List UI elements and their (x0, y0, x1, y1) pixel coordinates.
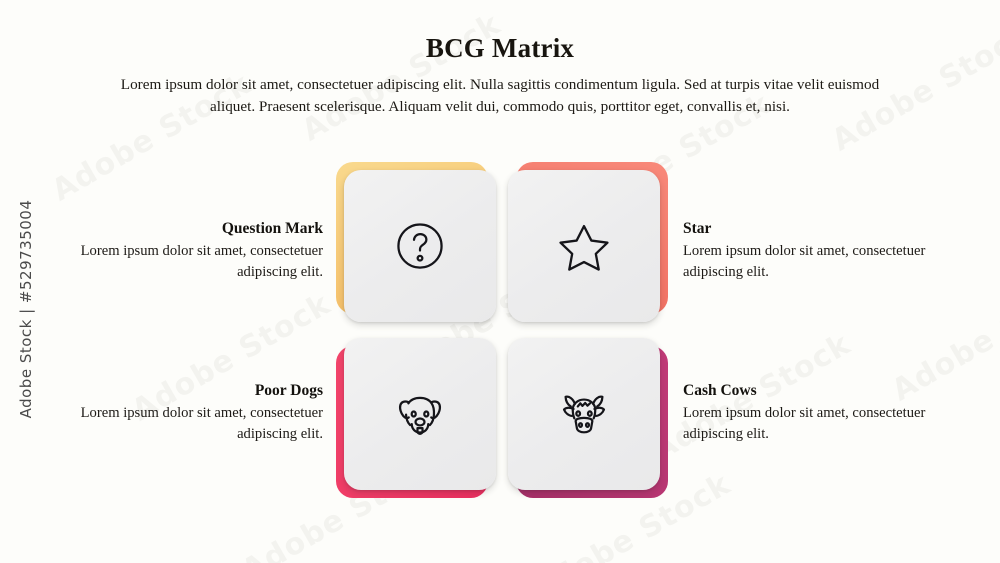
label-title: Question Mark (78, 219, 323, 240)
label-cash-cows: Cash Cows Lorem ipsum dolor sit amet, co… (683, 381, 928, 444)
quadrant-card[interactable] (344, 170, 496, 322)
bcg-matrix-grid (336, 162, 668, 498)
quadrant-card[interactable] (344, 338, 496, 490)
dog-face-icon (389, 383, 451, 445)
label-title: Cash Cows (683, 381, 928, 402)
label-question-mark: Question Mark Lorem ipsum dolor sit amet… (78, 219, 323, 282)
quadrant-card[interactable] (508, 170, 660, 322)
slide-canvas: Adobe Stock Adobe Stock Adobe Stock Adob… (0, 0, 1000, 563)
quadrant-cash-cows[interactable] (508, 338, 668, 498)
quadrant-poor-dogs[interactable] (336, 338, 496, 498)
label-star: Star Lorem ipsum dolor sit amet, consect… (683, 219, 928, 282)
question-mark-circle-icon (390, 216, 450, 276)
star-icon (553, 215, 615, 277)
page-title: BCG Matrix (0, 34, 1000, 64)
header: BCG Matrix Lorem ipsum dolor sit amet, c… (0, 34, 1000, 118)
stock-id-watermark: Adobe Stock | #529735004 (17, 179, 35, 439)
label-description: Lorem ipsum dolor sit amet, consectetuer… (683, 241, 928, 282)
page-subtitle: Lorem ipsum dolor sit amet, consectetuer… (100, 74, 900, 118)
label-description: Lorem ipsum dolor sit amet, consectetuer… (683, 403, 928, 444)
quadrant-star[interactable] (508, 162, 668, 322)
label-poor-dogs: Poor Dogs Lorem ipsum dolor sit amet, co… (78, 381, 323, 444)
quadrant-card[interactable] (508, 338, 660, 490)
label-description: Lorem ipsum dolor sit amet, consectetuer… (78, 241, 323, 282)
cow-face-icon (553, 383, 615, 445)
quadrant-question-mark[interactable] (336, 162, 496, 322)
label-description: Lorem ipsum dolor sit amet, consectetuer… (78, 403, 323, 444)
label-title: Star (683, 219, 928, 240)
label-title: Poor Dogs (78, 381, 323, 402)
